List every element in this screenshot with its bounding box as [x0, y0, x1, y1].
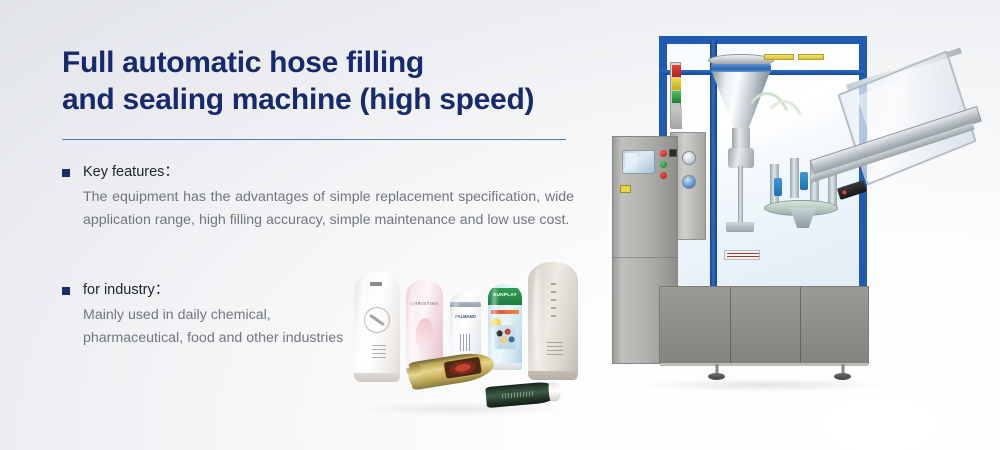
tube-logo: [370, 282, 382, 286]
tube-dot-pattern: [551, 283, 556, 317]
tube-fineprint: [372, 345, 386, 361]
warning-decal: [798, 54, 824, 60]
tube-holder-cup: [726, 222, 754, 232]
pressure-gauge-icon: [682, 175, 696, 189]
tube-fineprint: [547, 342, 563, 356]
headline-block: Full automatic hose filling and sealing …: [62, 44, 572, 118]
bullet-row: for industry：: [62, 281, 362, 301]
square-bullet-icon: [62, 169, 70, 177]
white-large-tube: [354, 272, 400, 382]
title-divider: [62, 139, 566, 140]
stop-button[interactable]: [660, 172, 667, 179]
product-banner: Full automatic hose filling and sealing …: [0, 0, 1000, 450]
machine-base-cabinet: [659, 286, 869, 364]
feature-block-for-industry: for industry： Mainly used in daily chemi…: [62, 281, 362, 350]
feature-label: Key features：: [83, 163, 179, 183]
signal-tower-light: [670, 62, 681, 128]
hopper-collar: [711, 64, 771, 73]
pneumatic-cylinder: [800, 172, 808, 190]
title-line-1: Full automatic hose filling: [62, 44, 572, 81]
piston-shaft: [738, 166, 743, 224]
tube-graphic: [460, 334, 471, 351]
start-button[interactable]: [660, 161, 667, 168]
tube-ornate-label: [442, 356, 483, 381]
page-title: Full automatic hose filling and sealing …: [62, 44, 572, 118]
sunscreen-tube-sunplay: SUNPLAY: [488, 284, 522, 370]
signal-lamp-red: [672, 65, 681, 77]
pneumatic-cylinder: [774, 178, 782, 196]
tube-text-lines: [502, 391, 534, 399]
square-bullet-icon: [62, 287, 70, 295]
signal-lamp-yellow: [672, 78, 681, 90]
emergency-stop-button[interactable]: [660, 150, 667, 157]
dark-green-tube: [485, 381, 559, 408]
beige-large-tube: [528, 262, 578, 380]
feature-label: for industry：: [83, 281, 169, 301]
feature-body: The equipment has the advantages of simp…: [83, 186, 574, 232]
turret-bowl: [790, 208, 816, 228]
feature-block-key-features: Key features： The equipment has the adva…: [62, 163, 574, 232]
adjustable-foot: [708, 364, 725, 381]
hose-filling-sealing-machine: [612, 36, 990, 384]
warning-decal: [764, 54, 794, 60]
safety-label: [724, 250, 760, 260]
tube-emblem-icon: [364, 307, 390, 333]
tube-petal-graphic: [416, 318, 434, 352]
signal-lamp-green: [672, 91, 681, 103]
bullet-row: Key features：: [62, 163, 574, 183]
pressure-gauge-icon: [682, 151, 696, 165]
title-line-2: and sealing machine (high speed): [62, 81, 572, 118]
cosmetic-hose-tubes-group: CHRISTINA PALMANO SUNPLAY: [352, 256, 584, 418]
selector-switch[interactable]: [669, 149, 677, 157]
filling-nozzle: [728, 148, 754, 168]
feature-body: Mainly used in daily chemical, pharmaceu…: [83, 304, 362, 350]
tube-cap: [548, 382, 562, 402]
adjustable-foot: [834, 364, 851, 381]
ce-label-icon: [620, 185, 631, 193]
hmi-touchscreen[interactable]: [622, 150, 655, 174]
